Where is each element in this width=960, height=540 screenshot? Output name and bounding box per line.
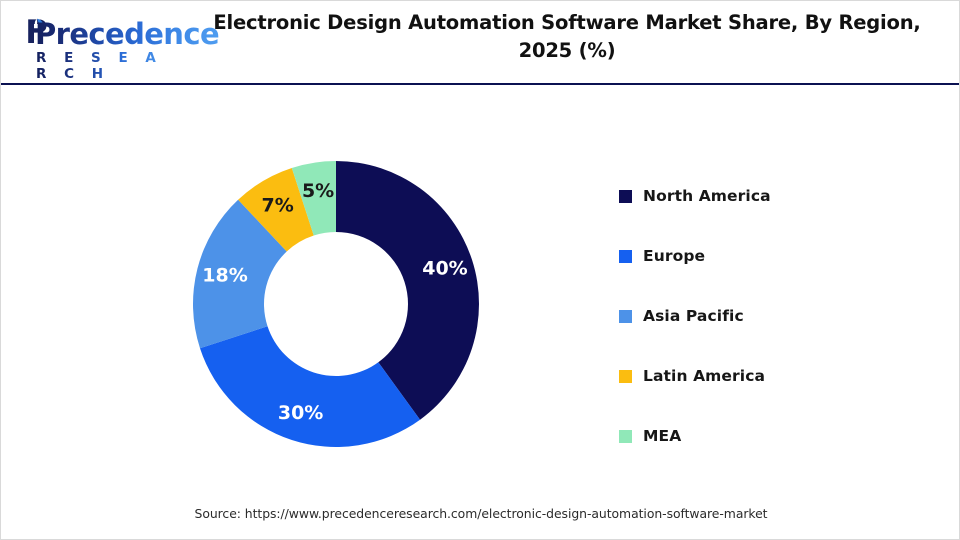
legend-swatch-icon	[619, 370, 632, 383]
legend-swatch-icon	[619, 250, 632, 263]
legend-item-europe[interactable]: Europe	[619, 226, 919, 286]
legend-swatch-icon	[619, 430, 632, 443]
legend-item-label: MEA	[643, 427, 681, 445]
legend-item-asia-pacific[interactable]: Asia Pacific	[619, 286, 919, 346]
chart-figure: Precedence R E S E A R C H Electronic De…	[0, 0, 960, 540]
slice-data-label: 18%	[202, 265, 247, 287]
source-note: Source: https://www.precedenceresearch.c…	[1, 506, 960, 521]
page-title: Electronic Design Automation Software Ma…	[187, 9, 947, 64]
legend-item-label: Latin America	[643, 367, 765, 385]
slice-data-label: 40%	[422, 258, 467, 280]
donut-chart: 40%30%18%7%5%	[193, 161, 479, 447]
chart-body: 40%30%18%7%5% North AmericaEuropeAsia Pa…	[1, 84, 960, 540]
legend-item-mea[interactable]: MEA	[619, 406, 919, 466]
legend-item-north-america[interactable]: North America	[619, 166, 919, 226]
slice-data-label: 7%	[262, 194, 294, 216]
precedence-research-logo: Precedence R E S E A R C H	[13, 15, 173, 71]
donut-chart-svg: 40%30%18%7%5%	[193, 161, 479, 447]
donut-slices	[193, 161, 479, 447]
legend-item-label: Europe	[643, 247, 705, 265]
legend-swatch-icon	[619, 310, 632, 323]
slice-data-label: 5%	[302, 180, 334, 202]
legend-item-label: North America	[643, 187, 771, 205]
donut-slice[interactable]	[200, 326, 420, 447]
slice-data-label: 30%	[278, 402, 323, 424]
chart-legend: North AmericaEuropeAsia PacificLatin Ame…	[619, 166, 919, 466]
legend-swatch-icon	[619, 190, 632, 203]
logo-subtitle: R E S E A R C H	[36, 50, 173, 82]
legend-item-label: Asia Pacific	[643, 307, 744, 325]
legend-item-latin-america[interactable]: Latin America	[619, 346, 919, 406]
